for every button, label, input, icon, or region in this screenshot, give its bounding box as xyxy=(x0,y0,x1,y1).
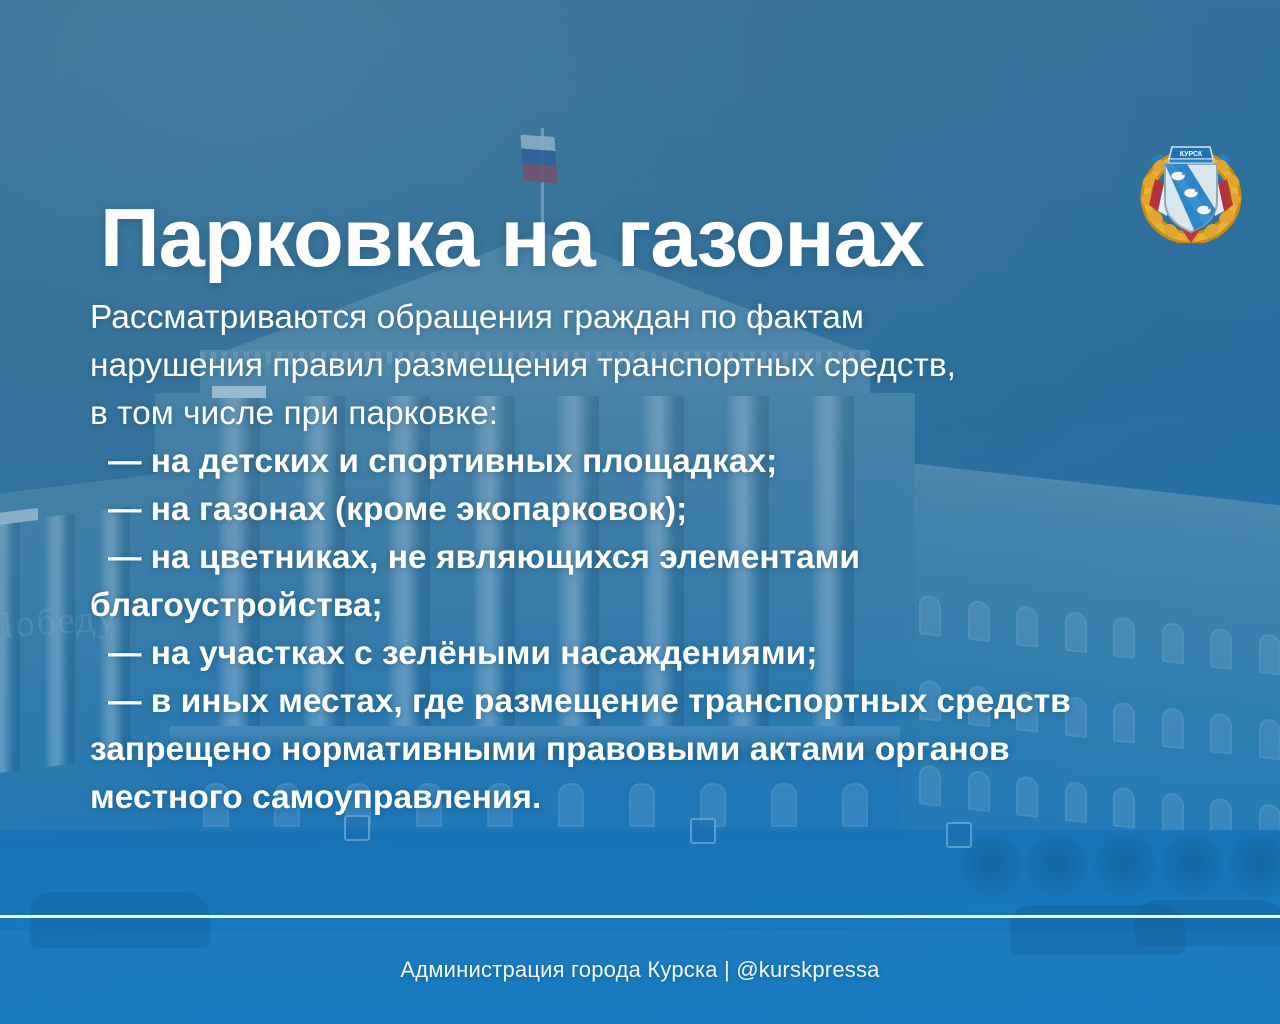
list-item: — на цветниках, не являющихся элементами xyxy=(90,534,1220,582)
poster-content: Парковка на газонах xyxy=(0,0,1280,1024)
footer-credit: Администрация города Курска | @kurskpres… xyxy=(0,957,1280,983)
body-copy: Рассматриваются обращения граждан по фак… xyxy=(90,294,1220,822)
violation-list: — на детских и спортивных площадках; — н… xyxy=(90,438,1220,822)
list-item: — на детских и спортивных площадках; xyxy=(90,438,1220,486)
list-item: запрещено нормативными правовыми актами … xyxy=(90,726,1220,774)
list-item: — на газонах (кроме экопарковок); xyxy=(90,486,1220,534)
intro-paragraph: Рассматриваются обращения граждан по фак… xyxy=(90,294,1220,438)
footer-divider xyxy=(0,915,1280,918)
intro-line-2: нарушения правил размещения транспортных… xyxy=(90,342,1220,390)
intro-line-3: в том числе при парковке: xyxy=(90,390,1220,438)
list-item: — в иных местах, где размещение транспор… xyxy=(90,678,1220,726)
list-item: местного самоуправления. xyxy=(90,774,1220,822)
coat-of-arms-kursk-icon: КУРСК xyxy=(1139,139,1243,243)
list-item: благоустройства; xyxy=(90,582,1220,630)
page-title: Парковка на газонах xyxy=(100,196,924,279)
svg-text:КУРСК: КУРСК xyxy=(1180,151,1203,158)
list-item: — на участках с зелёными насаждениями; xyxy=(90,630,1220,678)
intro-line-1: Рассматриваются обращения граждан по фак… xyxy=(90,294,1220,342)
poster-canvas: Победу Парковка на газонах xyxy=(0,0,1280,1024)
